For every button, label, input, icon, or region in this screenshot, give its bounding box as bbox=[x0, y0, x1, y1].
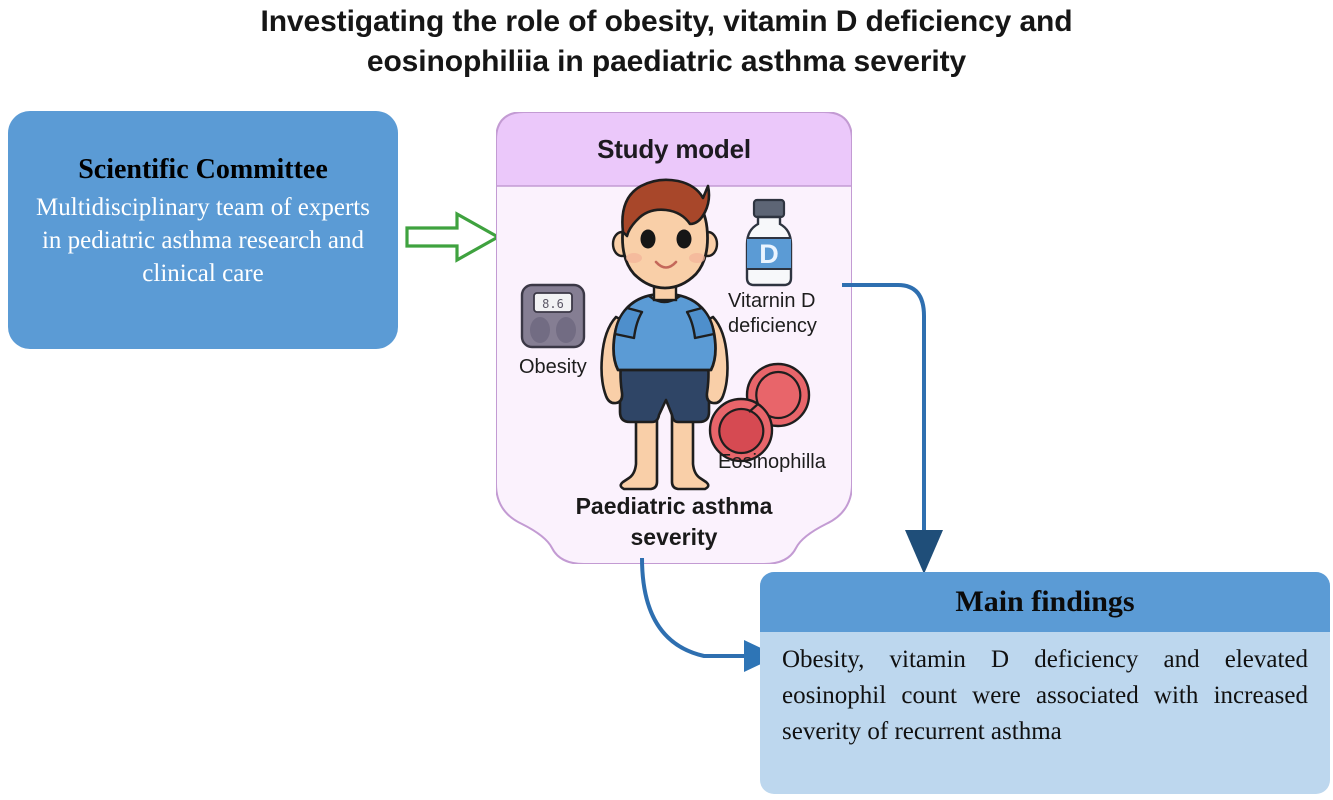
vitamin-d-label-line-1: Vitarnin D bbox=[728, 290, 815, 312]
main-findings-box: Main findings Obesity, vitamin D deficie… bbox=[760, 572, 1330, 794]
scientific-committee-box: Scientific Committee Multidisciplinary t… bbox=[8, 111, 398, 349]
flow-arrow-panel-to-findings-right bbox=[840, 282, 970, 577]
main-findings-header: Main findings bbox=[760, 572, 1330, 632]
page-title-line-2: eosinophiliia in paediatric asthma sever… bbox=[0, 42, 1333, 82]
study-model-caption: Paediatric asthma severity bbox=[496, 491, 852, 553]
main-findings-title: Main findings bbox=[955, 585, 1134, 619]
vitamin-d-label-line-2: deficiency bbox=[728, 315, 817, 337]
vitamin-d-deficiency-label: Vitarnin D deficiency bbox=[728, 289, 817, 339]
scientific-committee-description: Multidisciplinary team of experts in ped… bbox=[34, 191, 372, 290]
study-model-header-label: Study model bbox=[496, 134, 852, 165]
study-caption-line-2: severity bbox=[631, 524, 718, 550]
study-model-panel: Study model 8.6 D bbox=[496, 112, 852, 564]
study-caption-line-1: Paediatric asthma bbox=[576, 493, 773, 519]
scientific-committee-heading: Scientific Committee bbox=[34, 153, 372, 187]
green-arrow-right-icon bbox=[405, 209, 501, 265]
eosinophilla-label: Eosinophilla bbox=[718, 450, 826, 475]
page-title-line-1: Investigating the role of obesity, vitam… bbox=[0, 2, 1333, 42]
page-title: Investigating the role of obesity, vitam… bbox=[0, 2, 1333, 82]
main-findings-body: Obesity, vitamin D deficiency and elevat… bbox=[760, 632, 1330, 750]
obesity-label: Obesity bbox=[519, 355, 587, 380]
